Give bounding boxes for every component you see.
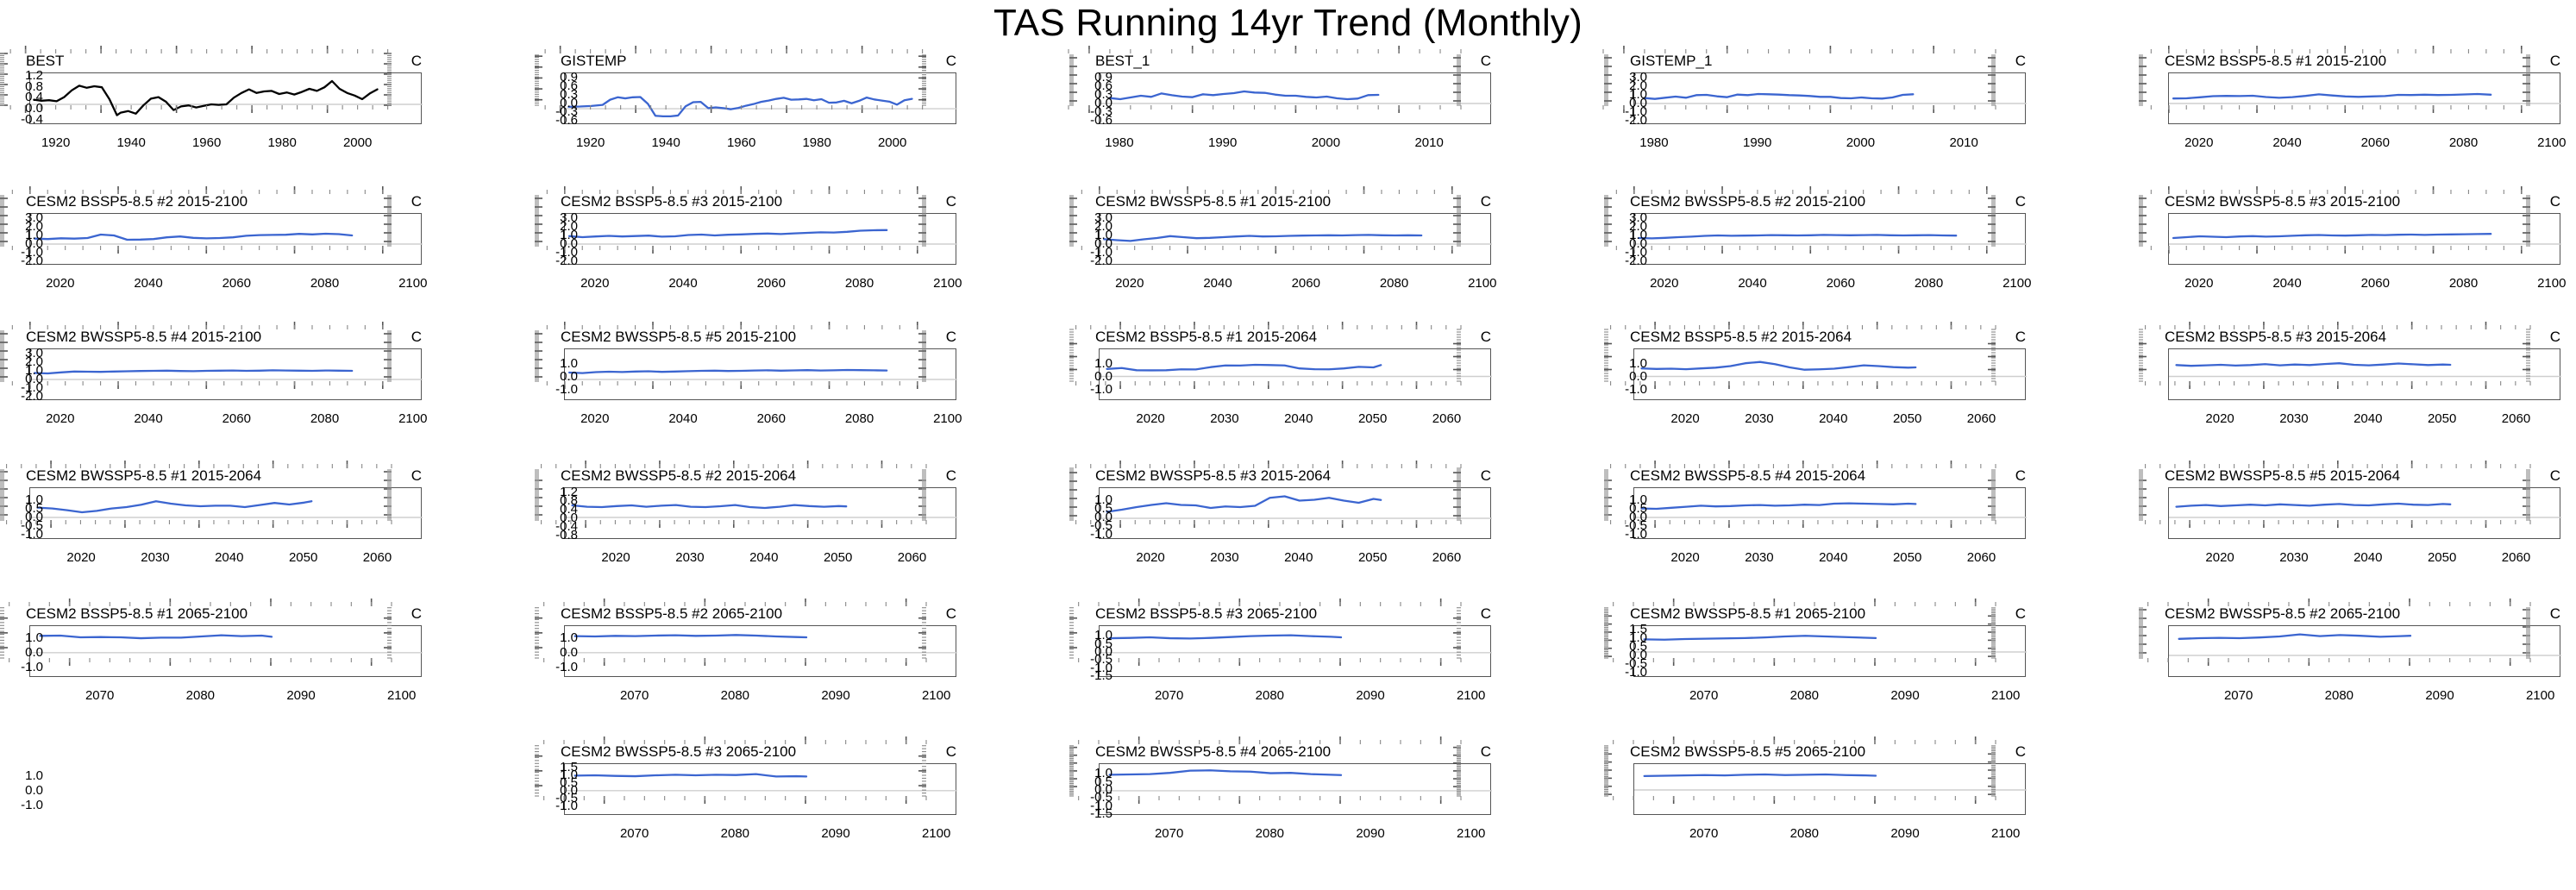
x-tick-label: 2090 <box>1879 689 1931 702</box>
x-tick-label: 2100 <box>1991 277 2043 290</box>
x-tick-label: 1940 <box>105 136 157 149</box>
y-tick-label: -2.0 <box>1595 114 1647 127</box>
x-tick-label: 2080 <box>299 412 351 425</box>
x-tick-label: 1990 <box>1732 136 1783 149</box>
y-tick-label: 1.0 <box>1595 357 1647 370</box>
x-tick-label: 2040 <box>657 412 709 425</box>
x-tick-label: 2020 <box>2173 136 2225 149</box>
x-tick-label: 2080 <box>2438 277 2490 290</box>
x-tick-label: 1980 <box>256 136 308 149</box>
x-tick-label: 2040 <box>2342 412 2394 425</box>
axis-ticks <box>2138 43 2556 116</box>
x-tick-label: 2080 <box>174 689 226 702</box>
x-tick-label: 2020 <box>1659 551 1711 564</box>
x-tick-label: 2050 <box>812 551 864 564</box>
panel-6: CESM2 BSSP5-8.5 #3 2015-2100C3.02.01.00.… <box>535 194 1052 323</box>
x-tick-label: 2060 <box>210 277 262 290</box>
y-tick-label: -2.0 <box>1061 254 1113 267</box>
x-tick-label: 2020 <box>1639 277 1690 290</box>
axis-ticks <box>1603 184 2021 256</box>
y-tick-label: -1.0 <box>526 799 578 812</box>
y-tick-label: 0.0 <box>526 370 578 383</box>
y-tick-label: 0.0 <box>0 784 43 797</box>
x-tick-label: 2060 <box>1955 412 2007 425</box>
panel-20: CESM2 BSSP5-8.5 #1 2065-2100C1.00.0-1.02… <box>0 606 517 736</box>
panel-17: CESM2 BWSSP5-8.5 #3 2015-2064C1.20.80.40… <box>1069 468 1587 598</box>
panel-5: CESM2 BSSP5-8.5 #2 2015-2100C3.02.01.00.… <box>0 194 517 323</box>
x-tick-label: 2020 <box>2194 412 2246 425</box>
x-tick-label: 1980 <box>1094 136 1145 149</box>
y-tick-label: -1.0 <box>0 799 43 812</box>
x-tick-label: 2070 <box>1678 689 1730 702</box>
x-tick-label: 2050 <box>1882 551 1934 564</box>
y-tick-label: 1.0 <box>526 631 578 644</box>
axis-ticks <box>0 596 417 668</box>
x-tick-label: 2060 <box>886 551 937 564</box>
x-tick-label: 2020 <box>1659 412 1711 425</box>
axis-ticks <box>1603 734 2021 806</box>
x-tick-label: 2100 <box>1457 277 1508 290</box>
x-tick-label: 2080 <box>1903 277 1955 290</box>
panel-16: CESM2 BWSSP5-8.5 #2 2015-2064C1.00.50.0-… <box>535 468 1052 598</box>
x-tick-label: 2030 <box>2268 412 2320 425</box>
panel-9: CESM2 BWSSP5-8.5 #3 2015-2100C3.02.01.00… <box>2139 194 2576 323</box>
x-tick-label: 2080 <box>299 277 351 290</box>
x-tick-label: 2020 <box>1125 551 1176 564</box>
panel-7: CESM2 BWSSP5-8.5 #1 2015-2100C3.02.01.00… <box>1069 194 1587 323</box>
x-tick-label: 2000 <box>1300 136 1351 149</box>
panel-13: CESM2 BSSP5-8.5 #2 2015-2064C1.00.0-1.02… <box>1604 329 2122 459</box>
panel-10: CESM2 BWSSP5-8.5 #4 2015-2100C3.02.01.00… <box>0 329 517 459</box>
y-tick-label: -1.0 <box>1061 528 1113 541</box>
axis-ticks <box>1603 43 2021 116</box>
y-tick-label: 0.0 <box>526 646 578 659</box>
axis-ticks <box>1069 458 1487 530</box>
x-tick-label: 2010 <box>1403 136 1455 149</box>
x-tick-label: 2080 <box>1778 689 1830 702</box>
y-tick-label: 0.0 <box>1061 370 1113 383</box>
axis-ticks <box>2138 184 2556 256</box>
x-tick-label: 2080 <box>1244 827 1295 840</box>
x-tick-label: 2100 <box>922 412 974 425</box>
axis-ticks <box>534 184 952 256</box>
x-tick-label: 2030 <box>1733 412 1785 425</box>
panel-0: BESTC0.600.400.200.00-0.20-0.40192019401… <box>0 53 517 183</box>
y-tick-label: -2.0 <box>0 254 43 267</box>
x-tick-label: 2050 <box>2416 412 2468 425</box>
x-tick-label: 2100 <box>1980 827 2032 840</box>
x-tick-label: 2040 <box>2342 551 2394 564</box>
x-tick-label: 2070 <box>1144 827 1195 840</box>
x-tick-label: 1940 <box>640 136 692 149</box>
axis-ticks <box>0 184 417 256</box>
x-tick-label: 2060 <box>745 412 797 425</box>
panel-21: CESM2 BSSP5-8.5 #2 2065-2100C1.00.0-1.02… <box>535 606 1052 736</box>
x-tick-label: 2060 <box>1814 277 1866 290</box>
x-tick-label: 2020 <box>34 277 86 290</box>
x-tick-label: 2020 <box>1104 277 1156 290</box>
x-tick-label: 2050 <box>1347 412 1399 425</box>
panel-3: GISTEMP_1C0.90.60.30.0-0.3-0.61980199020… <box>1604 53 2122 183</box>
axis-ticks <box>534 319 952 392</box>
panel-27: CESM2 BWSSP5-8.5 #5 2065-2100C1.00.50.0-… <box>1604 744 2122 874</box>
axis-ticks <box>0 319 417 392</box>
x-tick-label: 2040 <box>738 551 790 564</box>
panel-26: CESM2 BWSSP5-8.5 #4 2065-2100C1.51.00.50… <box>1069 744 1587 874</box>
x-tick-label: 2100 <box>922 277 974 290</box>
y-tick-label: -2.0 <box>526 254 578 267</box>
axis-ticks <box>1603 596 2021 668</box>
panel-4: CESM2 BSSP5-8.5 #1 2015-2100C3.02.01.00.… <box>2139 53 2576 183</box>
x-tick-label: 2020 <box>1125 412 1176 425</box>
x-tick-label: 2070 <box>2213 689 2265 702</box>
y-tick-label: 0.0 <box>0 646 43 659</box>
axis-ticks <box>1069 43 1487 116</box>
x-tick-label: 2060 <box>2349 277 2401 290</box>
y-tick-label: -0.8 <box>526 529 578 542</box>
x-tick-label: 2010 <box>1938 136 1990 149</box>
x-tick-label: 2000 <box>332 136 384 149</box>
panel-25: CESM2 BWSSP5-8.5 #3 2065-2100C1.00.0-1.0… <box>535 744 1052 874</box>
x-tick-label: 2030 <box>129 551 181 564</box>
x-tick-label: 2060 <box>1420 412 1472 425</box>
y-tick-label: -1.0 <box>526 383 578 396</box>
y-tick-label: -1.5 <box>1061 807 1113 820</box>
x-tick-label: 2090 <box>1344 827 1396 840</box>
x-tick-label: 2040 <box>2261 136 2313 149</box>
x-tick-label: 2020 <box>2173 277 2225 290</box>
y-tick-label: -0.4 <box>0 113 43 126</box>
axis-ticks <box>1069 596 1487 668</box>
axis-ticks <box>2138 458 2556 530</box>
x-tick-label: 2100 <box>1980 689 2032 702</box>
x-tick-label: 2020 <box>590 551 642 564</box>
x-tick-label: 2090 <box>1879 827 1931 840</box>
axis-ticks <box>534 734 952 806</box>
figure-root: TAS Running 14yr Trend (Monthly) BESTC0.… <box>0 0 2576 890</box>
x-tick-label: 2040 <box>1192 277 1244 290</box>
x-tick-label: 2040 <box>122 277 174 290</box>
x-tick-label: 2060 <box>1280 277 1332 290</box>
panel-11: CESM2 BWSSP5-8.5 #5 2015-2100C3.02.01.00… <box>535 329 1052 459</box>
x-tick-label: 2100 <box>387 412 439 425</box>
panel-14: CESM2 BSSP5-8.5 #3 2015-2064C1.00.0-1.02… <box>2139 329 2576 459</box>
x-tick-label: 2060 <box>2490 412 2542 425</box>
x-tick-label: 2070 <box>609 689 661 702</box>
axis-ticks <box>534 596 952 668</box>
x-tick-label: 2100 <box>911 827 962 840</box>
x-tick-label: 1980 <box>791 136 843 149</box>
y-tick-label: -1.0 <box>1061 383 1113 396</box>
x-tick-label: 2090 <box>1344 689 1396 702</box>
axis-ticks <box>1069 184 1487 256</box>
x-tick-label: 2030 <box>664 551 716 564</box>
axis-ticks <box>2138 596 2556 668</box>
y-tick-label: -0.6 <box>526 114 578 127</box>
x-tick-label: 2080 <box>1244 689 1295 702</box>
y-tick-label: 1.0 <box>0 631 43 644</box>
y-tick-label: -1.0 <box>0 528 43 541</box>
axis-ticks <box>0 458 417 530</box>
x-tick-label: 2060 <box>1420 551 1472 564</box>
axis-ticks <box>0 43 417 116</box>
axis-ticks <box>2138 319 2556 392</box>
y-tick-label: -1.0 <box>1595 528 1647 541</box>
panel-12: CESM2 BSSP5-8.5 #1 2015-2064C1.00.0-1.02… <box>1069 329 1587 459</box>
x-tick-label: 2020 <box>2194 551 2246 564</box>
axis-ticks <box>1603 458 2021 530</box>
x-tick-label: 2000 <box>1834 136 1886 149</box>
x-tick-label: 2060 <box>1955 551 2007 564</box>
x-tick-label: 2070 <box>1144 689 1195 702</box>
axis-ticks <box>1069 319 1487 392</box>
x-tick-label: 2060 <box>210 412 262 425</box>
y-tick-label: 1.0 <box>0 769 43 782</box>
y-tick-label: -1.0 <box>526 661 578 674</box>
x-tick-label: 2020 <box>569 277 621 290</box>
panel-15: CESM2 BWSSP5-8.5 #1 2015-2064C1.51.00.50… <box>0 468 517 598</box>
y-tick-label: 1.0 <box>1061 357 1113 370</box>
x-tick-label: 2040 <box>657 277 709 290</box>
y-tick-label: -1.5 <box>1061 669 1113 682</box>
x-tick-label: 2080 <box>834 277 886 290</box>
x-tick-label: 2080 <box>709 689 761 702</box>
panel-1: GISTEMPC1.20.80.40.0-0.41920194019601980… <box>535 53 1052 183</box>
panel-2: BEST_1C0.90.60.30.0-0.3-0.61980199020002… <box>1069 53 1587 183</box>
x-tick-label: 1920 <box>565 136 617 149</box>
x-tick-label: 1980 <box>1628 136 1680 149</box>
x-tick-label: 2020 <box>55 551 107 564</box>
x-tick-label: 2040 <box>1273 551 1325 564</box>
x-tick-label: 2070 <box>1678 827 1730 840</box>
x-tick-label: 2100 <box>1445 827 1497 840</box>
x-tick-label: 2030 <box>1199 412 1250 425</box>
panel-19: CESM2 BWSSP5-8.5 #5 2015-2064C1.00.50.0-… <box>2139 468 2576 598</box>
x-tick-label: 2040 <box>1808 551 1859 564</box>
y-tick-label: -2.0 <box>0 390 43 403</box>
panel-23: CESM2 BWSSP5-8.5 #1 2065-2100C1.00.50.0-… <box>1604 606 2122 736</box>
panel-18: CESM2 BWSSP5-8.5 #4 2015-2064C1.00.50.0-… <box>1604 468 2122 598</box>
figure-title: TAS Running 14yr Trend (Monthly) <box>0 2 2576 45</box>
x-tick-label: 2060 <box>2490 551 2542 564</box>
x-tick-label: 2100 <box>387 277 439 290</box>
panel-22: CESM2 BSSP5-8.5 #3 2065-2100C1.00.0-1.02… <box>1069 606 1587 736</box>
y-tick-label: -2.0 <box>1595 254 1647 267</box>
x-tick-label: 2050 <box>1882 412 1934 425</box>
x-tick-label: 2060 <box>351 551 403 564</box>
axis-ticks <box>1603 319 2021 392</box>
x-tick-label: 2100 <box>2526 277 2576 290</box>
y-tick-label: -1.0 <box>0 661 43 674</box>
x-tick-label: 2040 <box>1808 412 1859 425</box>
x-tick-label: 2080 <box>2313 689 2365 702</box>
y-tick-label: -0.6 <box>1061 114 1113 127</box>
x-tick-label: 2100 <box>376 689 428 702</box>
x-tick-label: 2060 <box>2349 136 2401 149</box>
x-tick-label: 2000 <box>867 136 918 149</box>
x-tick-label: 2090 <box>2414 689 2466 702</box>
panel-24: CESM2 BWSSP5-8.5 #2 2065-2100C1.51.00.50… <box>2139 606 2576 736</box>
y-tick-label: -1.0 <box>1595 383 1647 396</box>
x-tick-label: 2030 <box>2268 551 2320 564</box>
x-tick-label: 2100 <box>2515 689 2567 702</box>
x-tick-label: 2020 <box>569 412 621 425</box>
x-tick-label: 2080 <box>709 827 761 840</box>
x-tick-label: 1960 <box>181 136 233 149</box>
x-tick-label: 2070 <box>74 689 126 702</box>
x-tick-label: 2080 <box>1778 827 1830 840</box>
y-tick-label: 0.0 <box>1595 370 1647 383</box>
x-tick-label: 2030 <box>1733 551 1785 564</box>
axis-ticks <box>1069 734 1487 806</box>
y-tick-label: 1.0 <box>526 357 578 370</box>
x-tick-label: 2100 <box>2526 136 2576 149</box>
y-tick-label: -1.0 <box>1595 666 1647 679</box>
x-tick-label: 2050 <box>278 551 329 564</box>
x-tick-label: 2080 <box>1369 277 1420 290</box>
x-tick-label: 2090 <box>275 689 327 702</box>
x-tick-label: 2090 <box>810 689 862 702</box>
x-tick-label: 2040 <box>1727 277 1778 290</box>
x-tick-label: 2070 <box>609 827 661 840</box>
x-tick-label: 2050 <box>1347 551 1399 564</box>
axis-ticks <box>534 43 952 116</box>
x-tick-label: 1990 <box>1197 136 1249 149</box>
panel-8: CESM2 BWSSP5-8.5 #2 2015-2100C3.02.01.00… <box>1604 194 2122 323</box>
x-tick-label: 2040 <box>204 551 255 564</box>
x-tick-label: 2030 <box>1199 551 1250 564</box>
x-tick-label: 2040 <box>1273 412 1325 425</box>
x-tick-label: 2100 <box>911 689 962 702</box>
x-tick-label: 2020 <box>34 412 86 425</box>
x-tick-label: 2100 <box>1445 689 1497 702</box>
x-tick-label: 1920 <box>30 136 82 149</box>
x-tick-label: 2050 <box>2416 551 2468 564</box>
x-tick-label: 2040 <box>122 412 174 425</box>
x-tick-label: 2090 <box>810 827 862 840</box>
x-tick-label: 2080 <box>2438 136 2490 149</box>
x-tick-label: 2080 <box>834 412 886 425</box>
x-tick-label: 1960 <box>716 136 768 149</box>
x-tick-label: 2060 <box>745 277 797 290</box>
x-tick-label: 2040 <box>2261 277 2313 290</box>
axis-ticks <box>534 458 952 530</box>
